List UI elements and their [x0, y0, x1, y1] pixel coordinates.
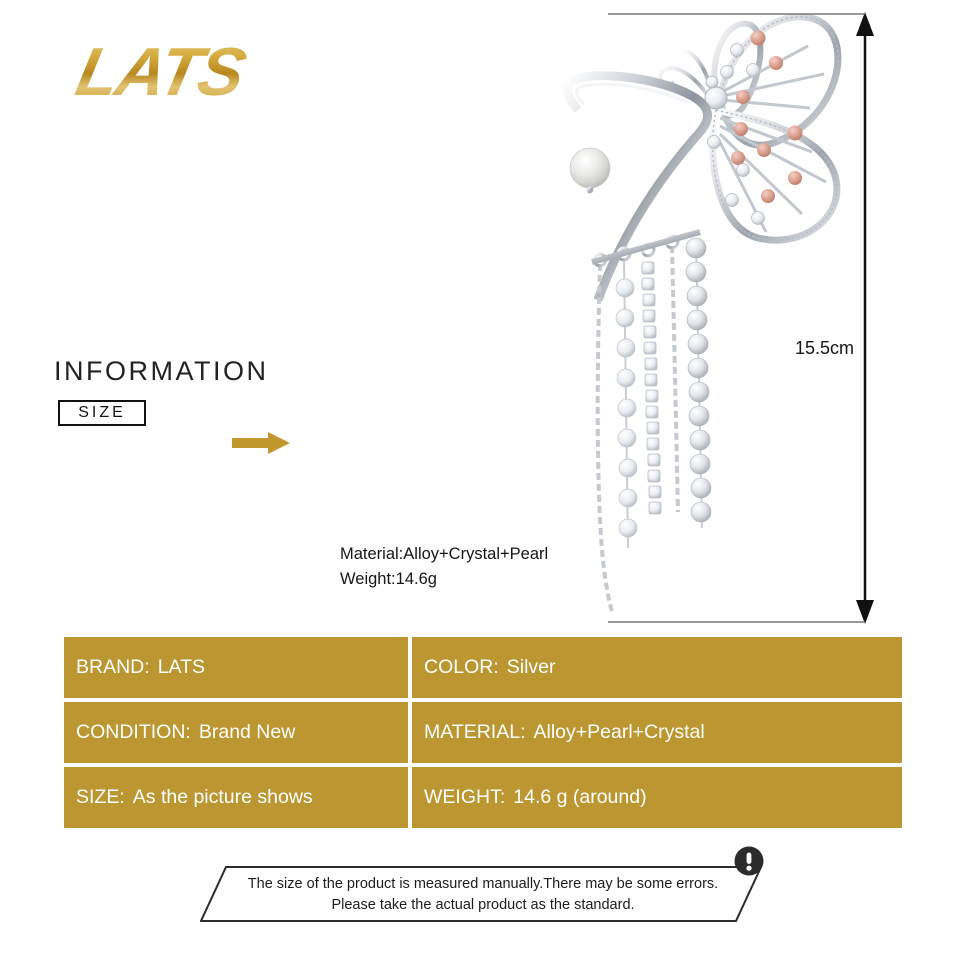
butterfly-ear-cuff-photo — [540, 0, 870, 640]
dimension-value-label: 15.5cm — [795, 338, 854, 359]
disclaimer-text: The size of the product is measured manu… — [228, 874, 738, 916]
brand-logo-text: LATS — [70, 36, 305, 108]
spec-key: SIZE: — [76, 786, 125, 809]
disclaimer-line-1: The size of the product is measured manu… — [228, 874, 738, 895]
spec-cell-condition: CONDITION: Brand New — [64, 702, 408, 763]
spec-value: As the picture shows — [133, 786, 313, 809]
weight-line: Weight:14.6g — [340, 567, 548, 592]
spec-value: 14.6 g (around) — [513, 786, 646, 809]
brand-logo: LATS — [78, 36, 298, 108]
spec-value: Silver — [507, 656, 556, 679]
spec-cell-weight: WEIGHT: 14.6 g (around) — [412, 767, 902, 828]
table-row: SIZE: As the picture shows WEIGHT: 14.6 … — [64, 767, 902, 828]
spec-cell-material: MATERIAL: Alloy+Pearl+Crystal — [412, 702, 902, 763]
pearl-drop — [570, 110, 610, 194]
spec-cell-brand: BRAND: LATS — [64, 637, 408, 698]
spec-value: Alloy+Pearl+Crystal — [534, 721, 705, 744]
spec-key: MATERIAL: — [424, 721, 526, 744]
spec-key: WEIGHT: — [424, 786, 505, 809]
product-spec-annotation: Material:Alloy+Crystal+Pearl Weight:14.6… — [340, 542, 548, 592]
disclaimer-line-2: Please take the actual product as the st… — [228, 895, 738, 916]
spec-key: COLOR: — [424, 656, 499, 679]
spec-key: BRAND: — [76, 656, 150, 679]
size-label-text: SIZE — [78, 404, 126, 422]
spec-key: CONDITION: — [76, 721, 191, 744]
spec-value: LATS — [158, 656, 205, 679]
table-row: BRAND: LATS COLOR: Silver — [64, 637, 902, 698]
disclaimer-banner: The size of the product is measured manu… — [200, 866, 762, 922]
information-heading: INFORMATION — [54, 356, 268, 387]
spec-cell-color: COLOR: Silver — [412, 637, 902, 698]
spec-value: Brand New — [199, 721, 295, 744]
table-row: CONDITION: Brand New MATERIAL: Alloy+Pea… — [64, 702, 902, 763]
right-arrow-icon — [232, 430, 290, 456]
material-line: Material:Alloy+Crystal+Pearl — [340, 542, 548, 567]
spec-cell-size: SIZE: As the picture shows — [64, 767, 408, 828]
butterfly-wings — [660, 17, 838, 240]
size-label-box: SIZE — [58, 400, 146, 426]
tassel-chains — [592, 232, 711, 612]
exclamation-icon — [734, 846, 764, 876]
specification-table: BRAND: LATS COLOR: Silver CONDITION: Bra… — [64, 637, 902, 828]
